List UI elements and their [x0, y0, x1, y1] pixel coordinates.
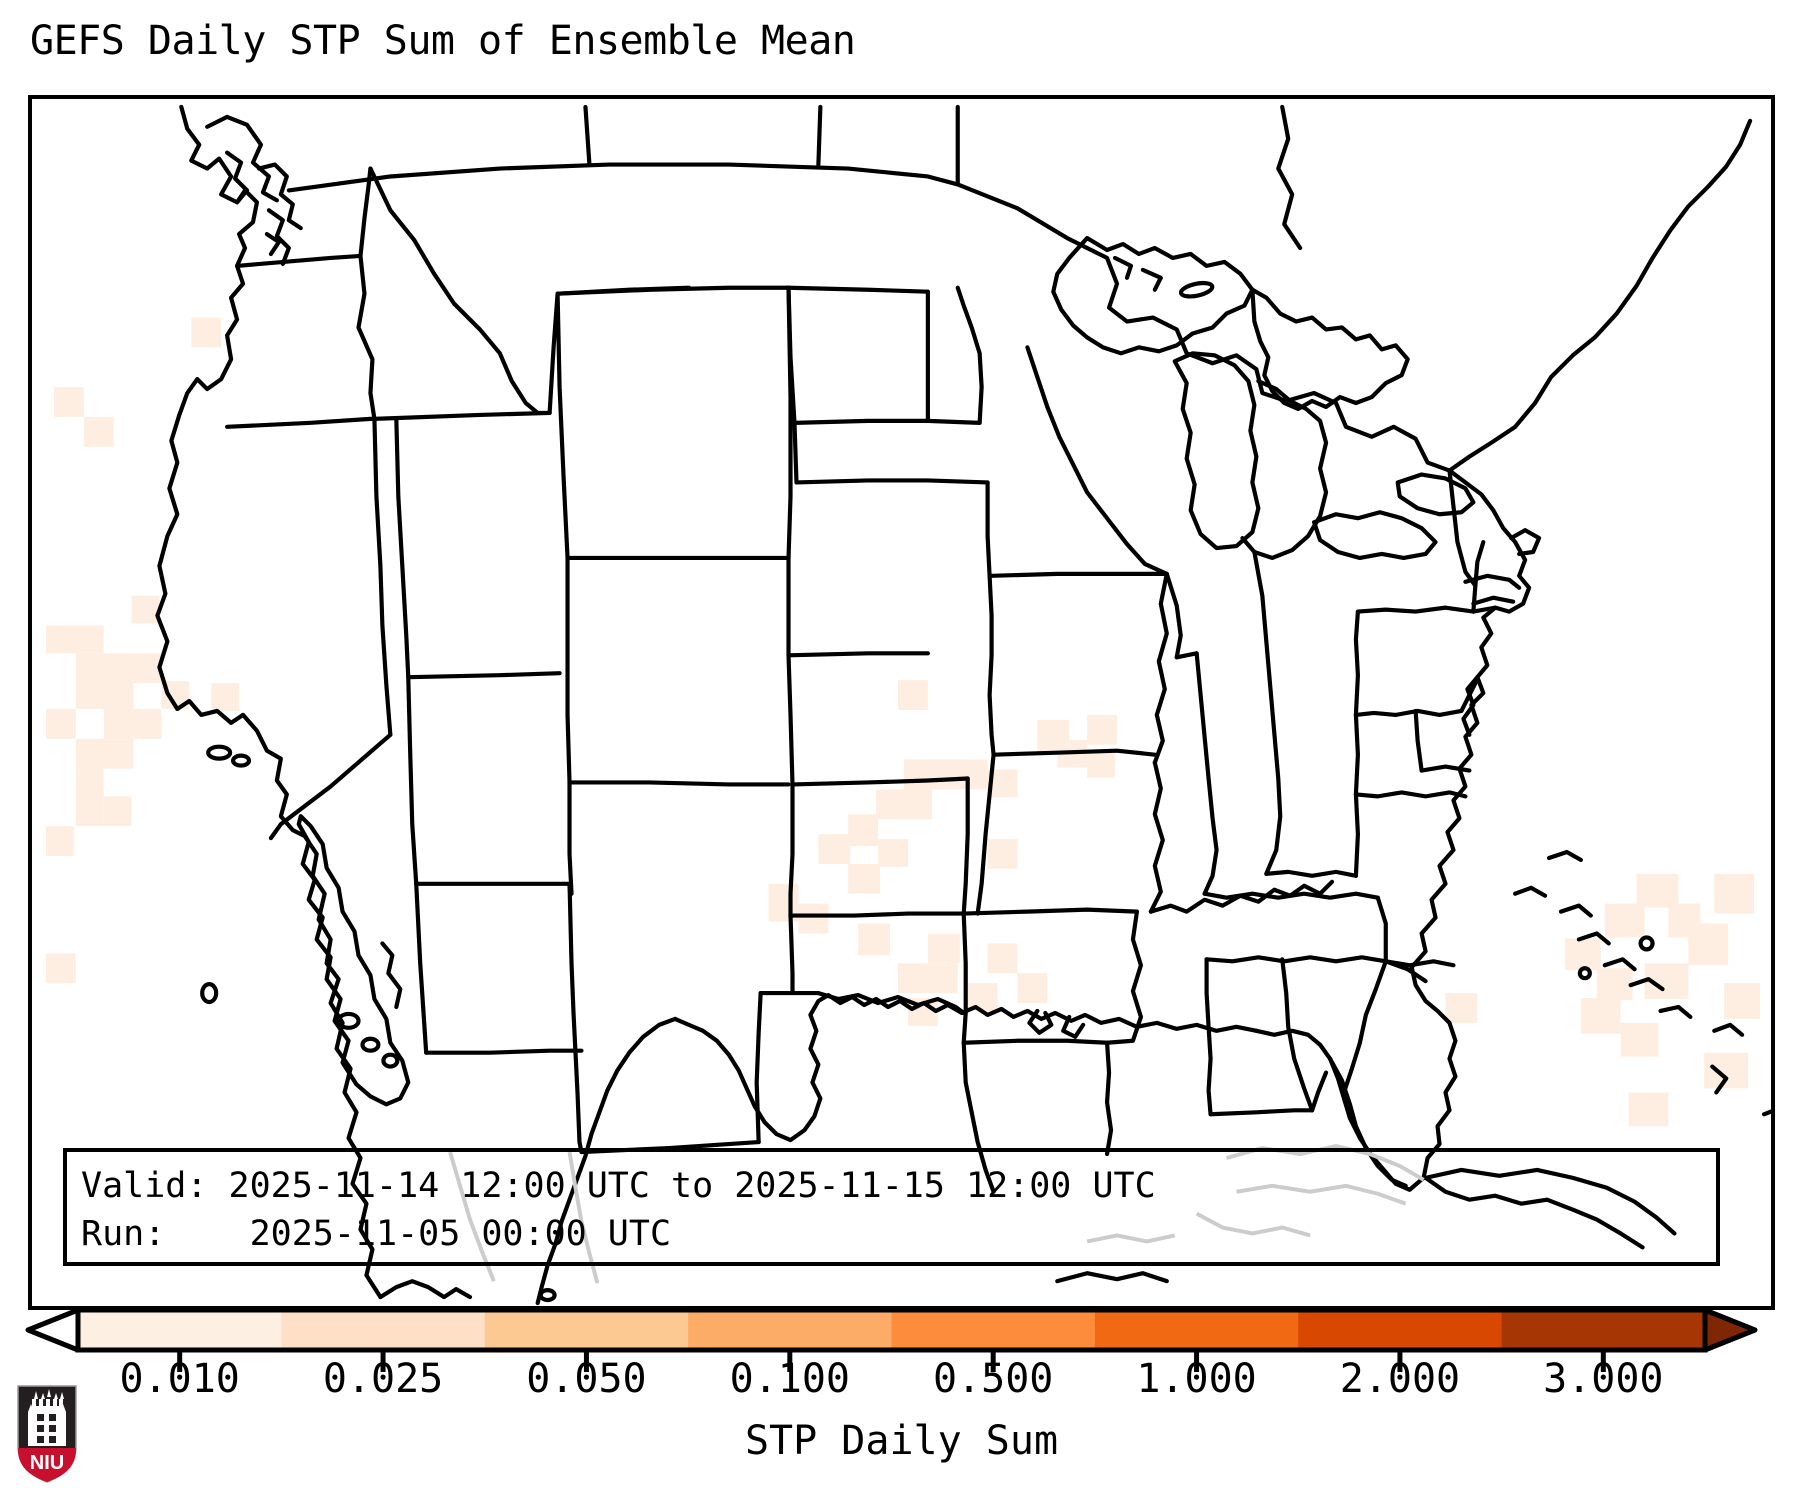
colorbar-band-0 — [78, 1310, 282, 1350]
colorbar-tick-label-4: 0.500 — [933, 1356, 1053, 1402]
colorbar-under-arrow — [28, 1310, 78, 1350]
niu-logo: NIU — [16, 1384, 78, 1484]
colorbar-tick-label-3: 0.100 — [730, 1356, 850, 1402]
colorbar-bands — [78, 1310, 1706, 1350]
colorbar-tick-label-1: 0.025 — [323, 1356, 443, 1402]
valid-time-line: Valid: 2025-11-14 12:00 UTC to 2025-11-1… — [81, 1162, 1716, 1210]
colorbar-axis-label: STP Daily Sum — [0, 1418, 1803, 1464]
colorbar-band-5 — [1095, 1310, 1299, 1350]
colorbar-band-3 — [688, 1310, 892, 1350]
map-plot-frame — [28, 95, 1775, 1310]
map-geography — [157, 107, 1771, 1303]
colorbar-tick-label-5: 1.000 — [1136, 1356, 1256, 1402]
colorbar-tick-label-6: 2.000 — [1340, 1356, 1460, 1402]
colorbar-band-6 — [1298, 1310, 1502, 1350]
colorbar: 0.0100.0250.0500.1000.5001.0002.0003.000… — [0, 1300, 1803, 1500]
colorbar-tick-label-7: 3.000 — [1543, 1356, 1663, 1402]
colorbar-band-2 — [485, 1310, 689, 1350]
colorbar-band-7 — [1502, 1310, 1706, 1350]
run-time-line: Run: 2025-11-05 00:00 UTC — [81, 1210, 1716, 1258]
page-title: GEFS Daily STP Sum of Ensemble Mean — [30, 18, 855, 64]
colorbar-tick-labels: 0.0100.0250.0500.1000.5001.0002.0003.000 — [0, 1356, 1803, 1412]
colorbar-over-arrow — [1705, 1310, 1755, 1350]
colorbar-band-4 — [892, 1310, 1096, 1350]
map-canvas — [32, 99, 1771, 1306]
colorbar-band-1 — [281, 1310, 485, 1350]
valid-run-info-box: Valid: 2025-11-14 12:00 UTC to 2025-11-1… — [63, 1148, 1720, 1266]
colorbar-tick-label-0: 0.010 — [119, 1356, 239, 1402]
niu-wordmark: NIU — [30, 1452, 64, 1474]
colorbar-tick-label-2: 0.050 — [526, 1356, 646, 1402]
